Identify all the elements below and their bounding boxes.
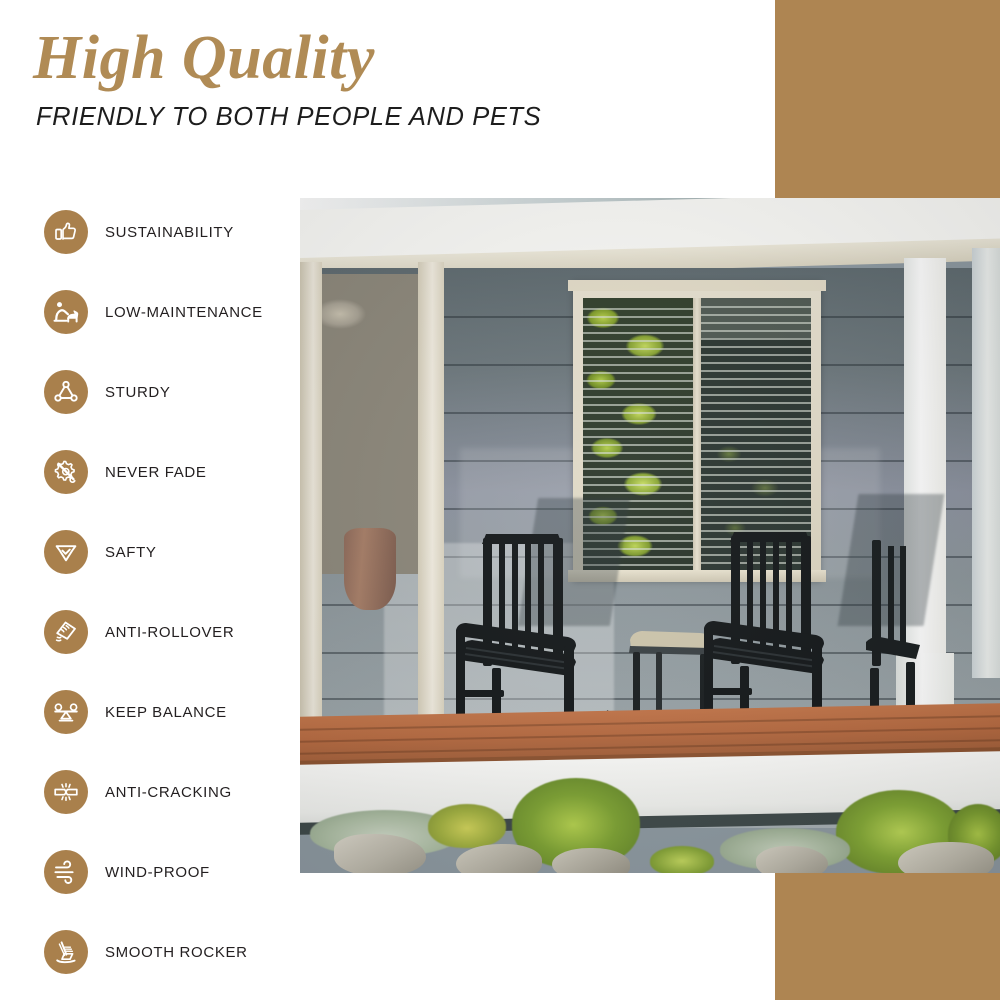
shield-check-icon [44,530,88,574]
granite-rock [552,848,630,873]
list-item: NEVER FADE [44,432,284,512]
blind-valance [699,298,811,338]
gear-wrench-icon [44,450,88,494]
feature-label: WIND-PROOF [105,864,210,881]
list-item: SAFTY [44,512,284,592]
page-title: High Quality [33,26,375,90]
feature-label: ANTI-CRACKING [105,784,232,801]
porch-post-left-inner [418,262,444,732]
feature-label: KEEP BALANCE [105,704,227,721]
page-subtitle: FRIENDLY TO BOTH PEOPLE AND PETS [36,103,541,132]
list-item: WIND-PROOF [44,832,284,912]
window-head-trim [568,280,826,291]
thumbs-up-icon [44,210,88,254]
feature-label: STURDY [105,384,171,401]
cracked-board-icon [44,770,88,814]
list-item: ANTI-CRACKING [44,752,284,832]
flowering-shrub [428,804,506,848]
person-washing-dog-icon [44,290,88,334]
gold-block-top-right [775,0,1000,202]
feature-label: SMOOTH ROCKER [105,944,248,961]
hand-wipe-icon [44,610,88,654]
product-feature-banner: High Quality FRIENDLY TO BOTH PEOPLE AND… [0,0,1000,1000]
feature-label: ANTI-ROLLOVER [105,624,234,641]
triangle-nodes-icon [44,370,88,414]
rocking-chair-icon [44,930,88,974]
feature-label: NEVER FADE [105,464,207,481]
list-item: SUSTAINABILITY [44,192,284,272]
gold-block-bottom-right [775,873,1000,1000]
list-item: KEEP BALANCE [44,672,284,752]
product-photo [300,198,1000,873]
terracotta-planter [344,528,396,610]
feature-label: SUSTAINABILITY [105,224,234,241]
seesaw-balance-icon [44,690,88,734]
wind-gust-icon [44,850,88,894]
list-item: STURDY [44,352,284,432]
list-item: ANTI-ROLLOVER [44,592,284,672]
feature-list: SUSTAINABILITY LOW-MAINTENANCE [44,192,284,992]
list-item: SMOOTH ROCKER [44,912,284,992]
porch-post-left [300,262,322,732]
feature-label: LOW-MAINTENANCE [105,304,263,321]
feature-label: SAFTY [105,544,157,561]
porch-post-far-right [972,248,1000,678]
small-plant-foreground [650,846,714,873]
list-item: LOW-MAINTENANCE [44,272,284,352]
